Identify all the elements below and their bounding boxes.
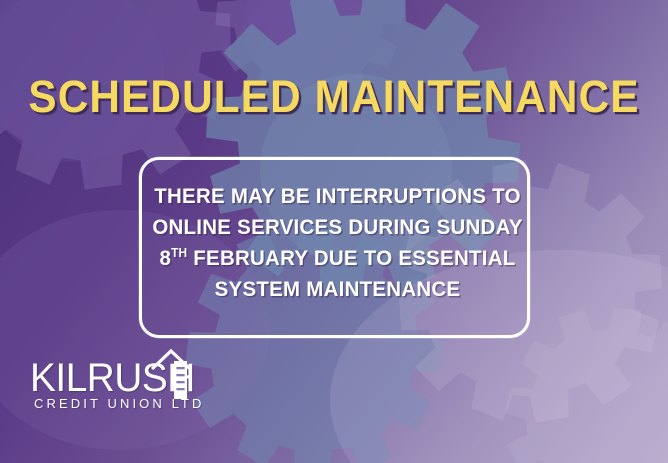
message-day-number: 8 <box>159 246 171 270</box>
message-line-3-rest: FEBRUARY DUE TO ESSENTIAL <box>187 246 515 270</box>
brand-subtitle: CREDIT UNION LTD <box>34 397 204 411</box>
message-line-3: 8TH FEBRUARY DUE TO ESSENTIAL <box>152 243 523 274</box>
house-roof-building-icon <box>148 347 196 403</box>
brand-logo: KILRUSH CREDIT UNION LTD <box>30 358 220 420</box>
message-text: THERE MAY BE INTERRUPTIONS TO ONLINE SER… <box>152 181 523 305</box>
message-day-ordinal: TH <box>171 246 187 260</box>
message-line-4: SYSTEM MAINTENANCE <box>152 274 523 305</box>
message-line-2: ONLINE SERVICES DURING SUNDAY <box>152 212 523 243</box>
scheduled-maintenance-poster: SCHEDULED MAINTENANCE THERE MAY BE INTER… <box>0 0 668 463</box>
message-line-1: THERE MAY BE INTERRUPTIONS TO <box>152 181 523 212</box>
message-box: THERE MAY BE INTERRUPTIONS TO ONLINE SER… <box>139 157 530 338</box>
page-title: SCHEDULED MAINTENANCE <box>20 74 648 120</box>
